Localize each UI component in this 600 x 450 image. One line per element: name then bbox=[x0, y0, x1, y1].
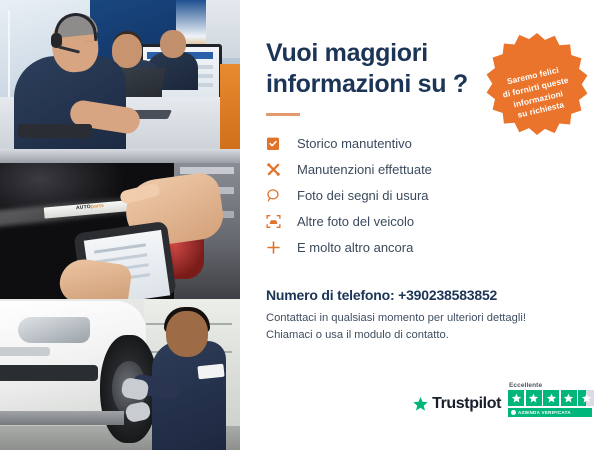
car-frame-icon bbox=[266, 214, 288, 229]
magnifier-icon bbox=[266, 188, 288, 203]
phone-line: Numero di telefono: +390238583852 bbox=[266, 287, 574, 303]
star-half bbox=[578, 390, 594, 406]
list-item-label: Storico manutentivo bbox=[297, 136, 412, 151]
promo-poster: AUTOparts bbox=[0, 0, 600, 450]
contact-block: Numero di telefono: +390238583852 Contat… bbox=[266, 287, 574, 344]
content-panel: Vuoi maggiori informazioni su ? Saremo f… bbox=[240, 0, 600, 450]
contact-subtext-line-2: Chiamaci o usa il modulo di contatto. bbox=[266, 327, 574, 344]
contact-subtext-line-1: Contattaci in qualsiasi momento per ulte… bbox=[266, 310, 574, 327]
tools-cross-icon bbox=[266, 162, 288, 177]
list-item: Manutenzioni effettuate bbox=[266, 156, 574, 182]
star-filled bbox=[508, 390, 524, 406]
star-filled bbox=[526, 390, 542, 406]
trustpilot-logo: Trustpilot bbox=[412, 395, 501, 417]
check-circle-icon bbox=[511, 410, 516, 415]
list-item-label: Manutenzioni effettuate bbox=[297, 162, 432, 177]
trustpilot-brand: Trustpilot bbox=[432, 395, 501, 413]
star-filled bbox=[561, 390, 577, 406]
headset-icon bbox=[474, 32, 496, 52]
clipboard-check-icon bbox=[266, 136, 288, 151]
list-item-label: E molto altro ancora bbox=[297, 240, 413, 255]
trustpilot-star-icon bbox=[412, 396, 429, 413]
trustpilot-verified-badge: AZIENDA VERIFICATA bbox=[508, 408, 592, 417]
callout-badge: Saremo felici di fornirti queste informa… bbox=[485, 32, 589, 136]
trustpilot-widget[interactable]: Trustpilot Eccellente bbox=[412, 382, 594, 418]
trustpilot-rating-block: Eccellente bbox=[508, 382, 594, 418]
trustpilot-rating-label: Eccellente bbox=[509, 382, 542, 389]
list-item: Altre foto del veicolo bbox=[266, 208, 574, 234]
mechanic-tire-photo bbox=[0, 299, 240, 450]
phone-label: Numero di telefono: bbox=[266, 287, 394, 303]
call-center-agents-photo bbox=[0, 0, 240, 149]
contact-subtext: Contattaci in qualsiasi momento per ulte… bbox=[266, 310, 574, 344]
list-item-label: Foto dei segni di usura bbox=[297, 188, 429, 203]
list-item: E molto altro ancora bbox=[266, 234, 574, 260]
trustpilot-verified-label: AZIENDA VERIFICATA bbox=[518, 410, 571, 415]
title-divider bbox=[266, 113, 300, 116]
photo-column: AUTOparts bbox=[0, 0, 240, 450]
trustpilot-stars bbox=[508, 390, 594, 406]
list-item: Foto dei segni di usura bbox=[266, 182, 574, 208]
phone-number[interactable]: +390238583852 bbox=[398, 287, 497, 303]
page-title: Vuoi maggiori informazioni su ? bbox=[266, 38, 476, 100]
feature-list: Storico manutentivo Manutenzioni effettu… bbox=[266, 130, 574, 260]
plus-icon bbox=[266, 240, 288, 255]
car-inspection-ruler-photo: AUTOparts bbox=[0, 149, 240, 299]
star-filled bbox=[543, 390, 559, 406]
list-item-label: Altre foto del veicolo bbox=[297, 214, 414, 229]
